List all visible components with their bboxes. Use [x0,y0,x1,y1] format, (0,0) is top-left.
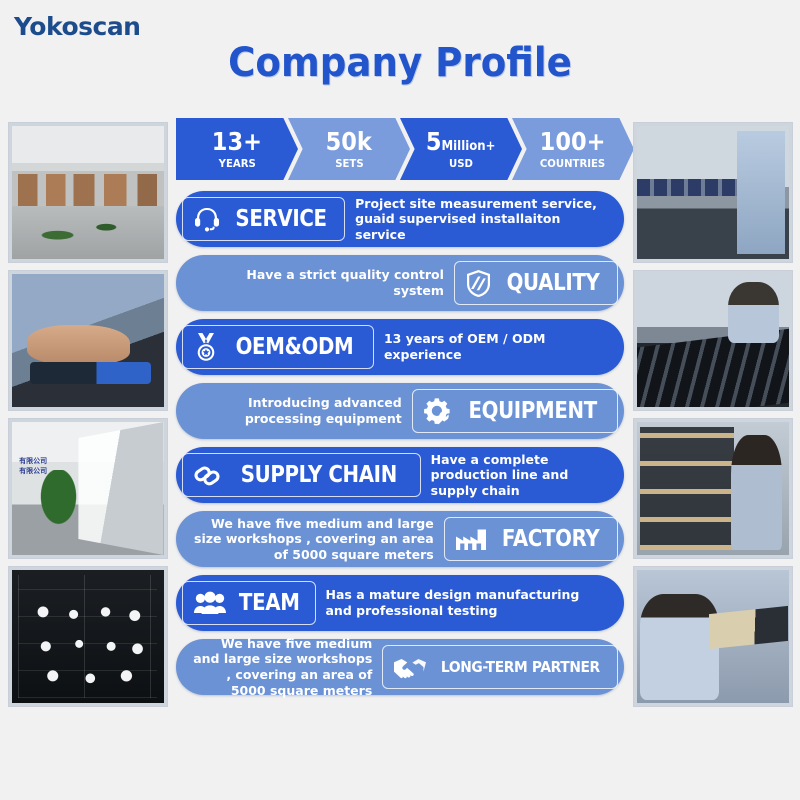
page-title: Company Profile [28,40,772,86]
team-label-box: TEAM [182,581,316,625]
photo-assembly-workbench [633,122,793,263]
service-label-box: SERVICE [182,197,345,241]
chain-link-icon [193,462,221,488]
feature-row-factory[interactable]: FACTORY We have five medium and large si… [176,511,624,567]
shield-icon [465,269,492,298]
handshake-icon [393,655,427,679]
stat-countries-label: COUNTRIES [540,157,605,170]
stat-years-value: 13+ [212,127,262,156]
right-photo-column [625,118,800,723]
content-stage: 有限公司有限公司 13+ YEARS 50k SETS 5Million+ US… [0,118,800,723]
equipment-label-box: EQUIPMENT [412,389,618,433]
photo-production-line [633,270,793,411]
supply-chain-label-box: SUPPLY CHAIN [182,453,421,497]
medal-icon [193,332,219,362]
equipment-description: Introducing advanced processing equipmen… [182,395,412,426]
stat-usd-label: USD [449,157,473,170]
stat-sets: 50k SETS [288,118,410,180]
oem-odm-label-box: OEM&ODM [182,325,374,369]
stat-countries: 100+ COUNTRIES [512,118,634,180]
people-icon [193,591,227,615]
headset-icon [193,206,221,232]
gear-wrench-icon [423,397,451,425]
photo-hands-assembling-device [8,270,168,411]
stat-years-label: YEARS [218,157,255,170]
long-term-partner-description: We have five medium and large size works… [182,636,382,699]
stat-sets-value: 50k [326,127,372,156]
stats-banner: 13+ YEARS 50k SETS 5Million+ USD 100+ CO… [176,118,624,180]
feature-row-oem-odm[interactable]: OEM&ODM 13 years of OEM / ODM experience [176,319,624,375]
long-term-partner-label: LONG-TERM PARTNER [441,659,600,675]
feature-row-long-term-partner[interactable]: LONG-TERM PARTNER We have five medium an… [176,639,624,695]
feature-row-equipment[interactable]: EQUIPMENT Introducing advanced processin… [176,383,624,439]
photo-product-display-cabinet [8,566,168,707]
factory-label: FACTORY [502,528,599,551]
photo-quality-inspection-rack [633,418,793,559]
stat-usd-value: 5 [426,127,442,156]
stat-sets-label: SETS [335,157,363,170]
stat-usd: 5Million+ USD [400,118,522,180]
supply-chain-label: SUPPLY CHAIN [241,464,397,487]
brand-logo-text: Yokoscan [14,12,140,41]
team-description: Has a mature design manufacturing and pr… [316,587,619,618]
factory-label-box: FACTORY [444,517,618,561]
quality-description: Have a strict quality control system [182,267,454,298]
service-description: Project site measurement service, guaid … [345,196,618,243]
quality-label: QUALITY [506,272,599,295]
center-column: 13+ YEARS 50k SETS 5Million+ USD 100+ CO… [175,118,625,723]
photo-office-corridor: 有限公司有限公司 [8,418,168,559]
feature-row-supply-chain[interactable]: SUPPLY CHAIN Have a complete production … [176,447,624,503]
photo-open-plan-office [8,122,168,263]
oem-odm-description: 13 years of OEM / ODM experience [374,331,618,362]
quality-label-box: QUALITY [454,261,618,305]
feature-row-service[interactable]: SERVICE Project site measurement service… [176,191,624,247]
oem-odm-label: OEM&ODM [236,336,354,359]
photo-workers-at-desk [633,566,793,707]
brand-logo: Yokoscan [14,12,140,41]
stat-years: 13+ YEARS [176,118,298,180]
stat-countries-value: 100+ [540,127,606,156]
factory-icon [455,527,487,551]
long-term-partner-label-box: LONG-TERM PARTNER [382,645,618,689]
supply-chain-description: Have a complete production line and supp… [421,452,618,499]
equipment-label: EQUIPMENT [468,400,596,423]
left-photo-column: 有限公司有限公司 [0,118,175,723]
feature-row-team[interactable]: TEAM Has a mature design manufacturing a… [176,575,624,631]
service-label: SERVICE [235,208,326,231]
corridor-sign-text: 有限公司有限公司 [19,457,68,492]
stat-usd-unit: Million+ [442,139,496,154]
team-label: TEAM [239,592,300,615]
feature-row-quality[interactable]: QUALITY Have a strict quality control sy… [176,255,624,311]
factory-description: We have five medium and large size works… [182,516,444,563]
